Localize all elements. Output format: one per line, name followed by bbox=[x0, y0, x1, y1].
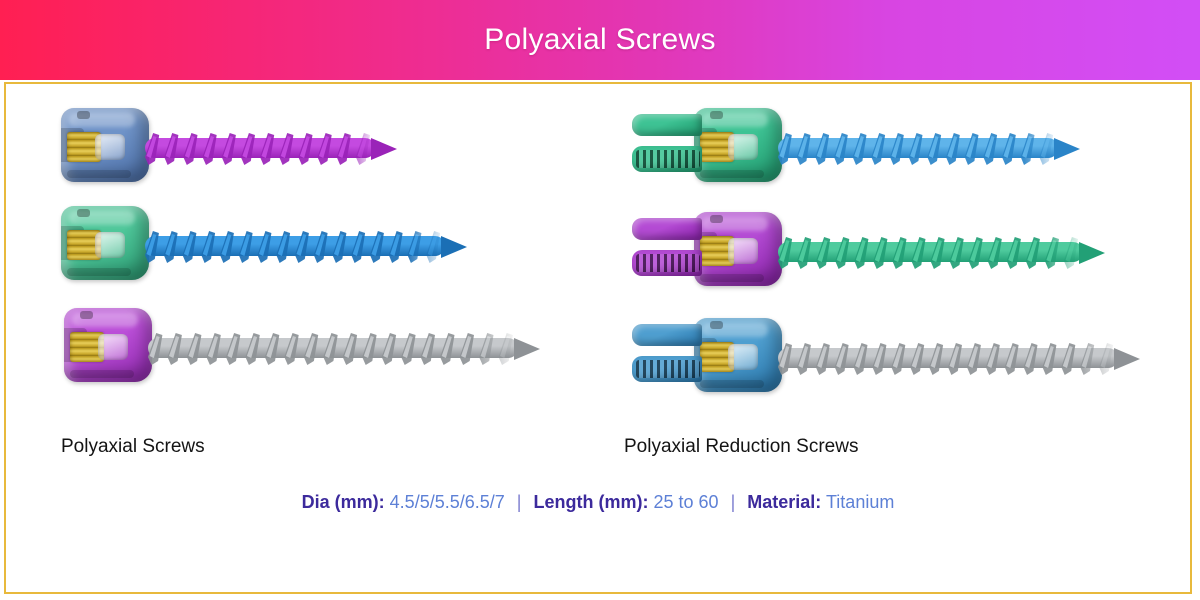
dia-label: Dia (mm): bbox=[302, 492, 385, 512]
poster-header: Polyaxial Screws bbox=[0, 0, 1200, 80]
head-foot bbox=[67, 170, 131, 178]
column-polyaxial-screws: Polyaxial Screws bbox=[16, 84, 606, 592]
column-polyaxial-reduction-screws: Polyaxial Reduction Screws bbox=[606, 84, 1184, 592]
material-value: Titanium bbox=[826, 492, 894, 512]
rod-channel-window bbox=[728, 344, 758, 370]
head-notch bbox=[80, 311, 93, 319]
reduction-tab-upper bbox=[632, 114, 702, 136]
self-tapping-tip bbox=[514, 338, 540, 360]
head-notch bbox=[710, 111, 723, 119]
head-notch bbox=[710, 321, 723, 329]
rod-channel-window bbox=[728, 134, 758, 160]
length-label: Length (mm): bbox=[533, 492, 648, 512]
head-notch bbox=[77, 111, 90, 119]
length-value: 25 to 60 bbox=[653, 492, 718, 512]
self-tapping-tip bbox=[1079, 242, 1105, 264]
caption-polyaxial-reduction-screws: Polyaxial Reduction Screws bbox=[624, 436, 858, 458]
head-notch bbox=[77, 209, 90, 217]
tulip-head bbox=[694, 108, 782, 182]
head-foot bbox=[67, 268, 131, 276]
threaded-shaft bbox=[778, 336, 1118, 380]
threaded-shaft bbox=[778, 230, 1083, 274]
caption-polyaxial-screws: Polyaxial Screws bbox=[61, 436, 205, 458]
shaft-threads bbox=[148, 326, 518, 370]
rod-channel-window bbox=[728, 238, 758, 264]
page-title: Polyaxial Screws bbox=[484, 23, 716, 57]
head-notch bbox=[710, 215, 723, 223]
threaded-shaft bbox=[145, 224, 445, 268]
product-poster: Polyaxial Screws bbox=[0, 0, 1200, 600]
rod-channel-window bbox=[98, 334, 128, 360]
threaded-shaft bbox=[145, 126, 375, 170]
tulip-head bbox=[64, 308, 152, 382]
threaded-shaft bbox=[778, 126, 1058, 170]
head-foot bbox=[70, 370, 134, 378]
tulip-head bbox=[61, 108, 149, 182]
content-panel: Polyaxial Screws bbox=[4, 82, 1192, 594]
rod-channel-window bbox=[95, 232, 125, 258]
reduction-tab-upper bbox=[632, 324, 702, 346]
self-tapping-tip bbox=[441, 236, 467, 258]
shaft-threads bbox=[145, 224, 445, 268]
head-foot bbox=[700, 380, 764, 388]
reduction-tab-lower bbox=[632, 250, 702, 276]
head-foot bbox=[700, 274, 764, 282]
shaft-threads bbox=[778, 230, 1083, 274]
tulip-head bbox=[694, 318, 782, 392]
reduction-tab-lower bbox=[632, 356, 702, 382]
tulip-head bbox=[694, 212, 782, 286]
reduction-tabs bbox=[632, 320, 706, 390]
dia-value: 4.5/5/5.5/6.5/7 bbox=[390, 492, 505, 512]
spec-separator-1: | bbox=[510, 492, 529, 512]
material-label: Material: bbox=[747, 492, 821, 512]
tulip-head bbox=[61, 206, 149, 280]
self-tapping-tip bbox=[1114, 348, 1140, 370]
screw-columns: Polyaxial Screws bbox=[6, 84, 1190, 592]
shaft-threads bbox=[778, 126, 1058, 170]
rod-channel-window bbox=[95, 134, 125, 160]
self-tapping-tip bbox=[1054, 138, 1080, 160]
shaft-threads bbox=[778, 336, 1118, 380]
spec-separator-2: | bbox=[724, 492, 743, 512]
reduction-tab-lower bbox=[632, 146, 702, 172]
self-tapping-tip bbox=[371, 138, 397, 160]
specifications-line: Dia (mm): 4.5/5/5.5/6.5/7 | Length (mm):… bbox=[6, 492, 1190, 513]
shaft-threads bbox=[145, 126, 375, 170]
reduction-tabs bbox=[632, 214, 706, 284]
head-foot bbox=[700, 170, 764, 178]
reduction-tab-upper bbox=[632, 218, 702, 240]
reduction-tabs bbox=[632, 110, 706, 180]
threaded-shaft bbox=[148, 326, 518, 370]
